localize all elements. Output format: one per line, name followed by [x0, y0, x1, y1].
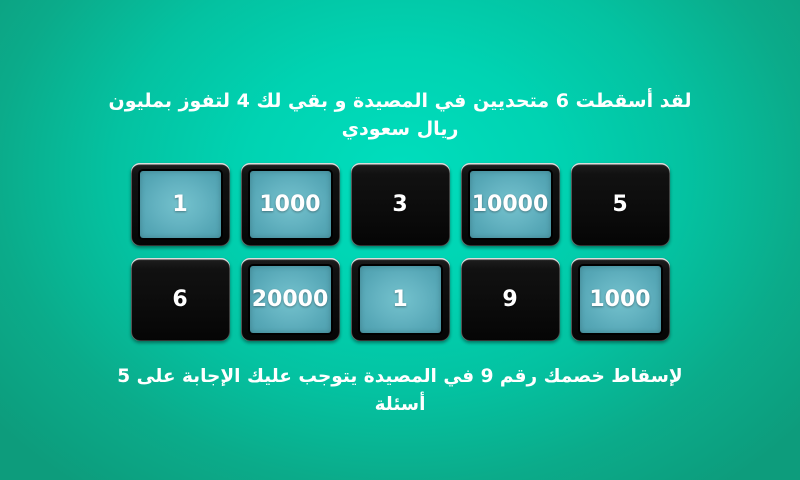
tile-value: 1: [172, 194, 187, 216]
tile-face: 3: [351, 163, 450, 246]
tile-hidden[interactable]: 3: [351, 163, 450, 246]
tile-value: 6: [172, 289, 187, 311]
tile-revealed[interactable]: 1000: [571, 258, 670, 341]
tile-face: 6: [131, 258, 230, 341]
tile-row: 110003100005: [131, 163, 670, 246]
tile-value: 9: [502, 289, 517, 311]
top-status-message: لقد أسقطت 6 متحديين في المصيدة و بقي لك …: [90, 88, 710, 143]
tile-revealed[interactable]: 20000: [241, 258, 340, 341]
tile-face: 9: [461, 258, 560, 341]
tile-screen: 1000: [580, 266, 661, 333]
tile-value: 1000: [259, 194, 320, 216]
game-stage: لقد أسقطت 6 متحديين في المصيدة و بقي لك …: [0, 0, 800, 480]
tile-screen: 10000: [470, 171, 551, 238]
tile-face: 5: [571, 163, 670, 246]
tile-revealed[interactable]: 1000: [241, 163, 340, 246]
tile-hidden[interactable]: 6: [131, 258, 230, 341]
tile-value: 5: [612, 194, 627, 216]
tile-hidden[interactable]: 5: [571, 163, 670, 246]
bottom-instruction-message: لإسقاط خصمك رقم 9 في المصيدة يتوجب عليك …: [90, 363, 710, 419]
tile-board: 110003100005620000191000: [131, 163, 670, 341]
tile-value: 20000: [252, 289, 329, 311]
tile-revealed[interactable]: 10000: [461, 163, 560, 246]
tile-value: 3: [392, 194, 407, 216]
tile-value: 1000: [589, 289, 650, 311]
tile-hidden[interactable]: 9: [461, 258, 560, 341]
tile-screen: 1: [140, 171, 221, 238]
tile-revealed[interactable]: 1: [351, 258, 450, 341]
tile-value: 1: [392, 289, 407, 311]
tile-screen: 1: [360, 266, 441, 333]
tile-screen: 1000: [250, 171, 331, 238]
tile-screen: 20000: [250, 266, 331, 333]
tile-value: 10000: [472, 194, 549, 216]
tile-revealed[interactable]: 1: [131, 163, 230, 246]
tile-row: 620000191000: [131, 258, 670, 341]
